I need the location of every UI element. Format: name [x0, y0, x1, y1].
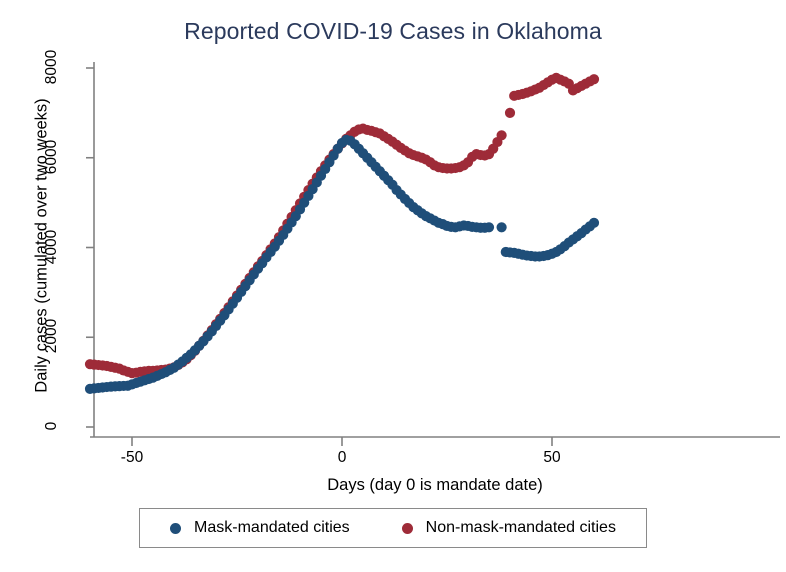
x-tick-label: 50	[522, 449, 582, 467]
y-axis-label: Daily cases (cumulated over two weeks)	[33, 51, 52, 441]
data-point	[497, 222, 507, 232]
series-non-mask-mandated-cities	[85, 73, 599, 378]
data-point	[589, 218, 599, 228]
axis-lines	[90, 62, 780, 437]
x-axis-label: Days (day 0 is mandate date)	[85, 476, 785, 495]
x-tick-label: 0	[312, 449, 372, 467]
data-point	[505, 108, 515, 118]
chart-legend: Mask-mandated cities Non-mask-mandated c…	[139, 508, 647, 548]
series-mask-mandated-cities	[85, 135, 599, 394]
legend-label-mask-mandated: Mask-mandated cities	[194, 519, 350, 537]
data-point	[589, 74, 599, 84]
data-point	[484, 222, 494, 232]
chart-figure: Reported COVID-19 Cases in Oklahoma 0200…	[0, 0, 786, 572]
legend-marker-icon-mask-mandated	[170, 523, 181, 534]
x-axis-ticks	[132, 437, 552, 446]
legend-label-non-mask-mandated: Non-mask-mandated cities	[426, 519, 616, 537]
data-point	[497, 130, 507, 140]
y-axis-ticks	[86, 68, 94, 427]
legend-entry-non-mask-mandated[interactable]: Non-mask-mandated cities	[402, 519, 616, 537]
legend-marker-icon-non-mask-mandated	[402, 523, 413, 534]
legend-entry-mask-mandated[interactable]: Mask-mandated cities	[170, 519, 350, 537]
x-tick-label: -50	[102, 449, 162, 467]
